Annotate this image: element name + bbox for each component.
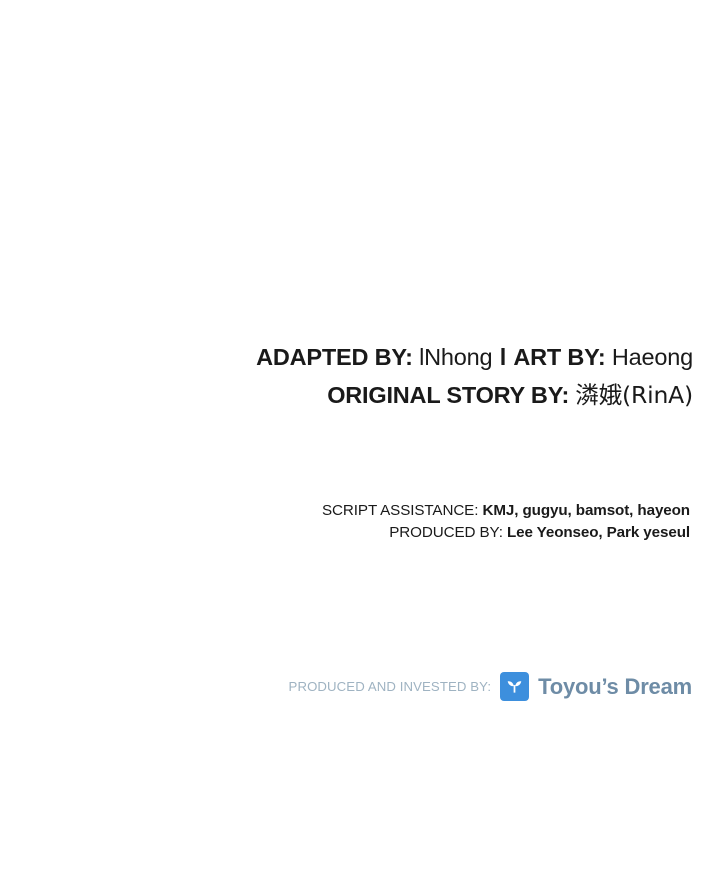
produced-by-label: PRODUCED BY: — [389, 524, 503, 541]
credit-line-script-assistance: SCRIPT ASSISTANCE: KMJ, gugyu, bamsot, h… — [0, 500, 690, 522]
adapted-by-value: lNhong — [419, 344, 492, 370]
sub-credits-block: SCRIPT ASSISTANCE: KMJ, gugyu, bamsot, h… — [0, 500, 690, 544]
script-assistance-label: SCRIPT ASSISTANCE: — [322, 502, 478, 519]
publisher-footer: PRODUCED AND INVESTED BY: Toyou’s Dream — [0, 672, 692, 701]
original-story-by-label: ORIGINAL STORY BY: — [327, 382, 569, 408]
produced-by-value: Lee Yeonseo, Park yeseul — [507, 524, 690, 541]
main-credits-block: ADAPTED BY: lNhong l ART BY: Haeong ORIG… — [0, 338, 693, 414]
credit-line-original-story: ORIGINAL STORY BY: 潾娥(RinA) — [0, 376, 693, 414]
credit-line-adapted-art: ADAPTED BY: lNhong l ART BY: Haeong — [0, 338, 693, 376]
credit-line-produced-by: PRODUCED BY: Lee Yeonseo, Park yeseul — [0, 522, 690, 544]
art-by-value: Haeong — [612, 344, 693, 370]
sprout-logo-icon — [500, 672, 529, 701]
adapted-by-label: ADAPTED BY: — [256, 344, 413, 370]
produced-and-invested-by-label: PRODUCED AND INVESTED BY: — [289, 679, 492, 694]
script-assistance-value: KMJ, gugyu, bamsot, hayeon — [482, 502, 690, 519]
original-story-by-value: 潾娥(RinA) — [575, 381, 693, 409]
credits-page: ADAPTED BY: lNhong l ART BY: Haeong ORIG… — [0, 0, 720, 872]
art-by-label: ART BY: — [513, 344, 605, 370]
brand-wordmark: Toyou’s Dream — [538, 674, 692, 700]
credit-separator: l — [499, 344, 507, 370]
